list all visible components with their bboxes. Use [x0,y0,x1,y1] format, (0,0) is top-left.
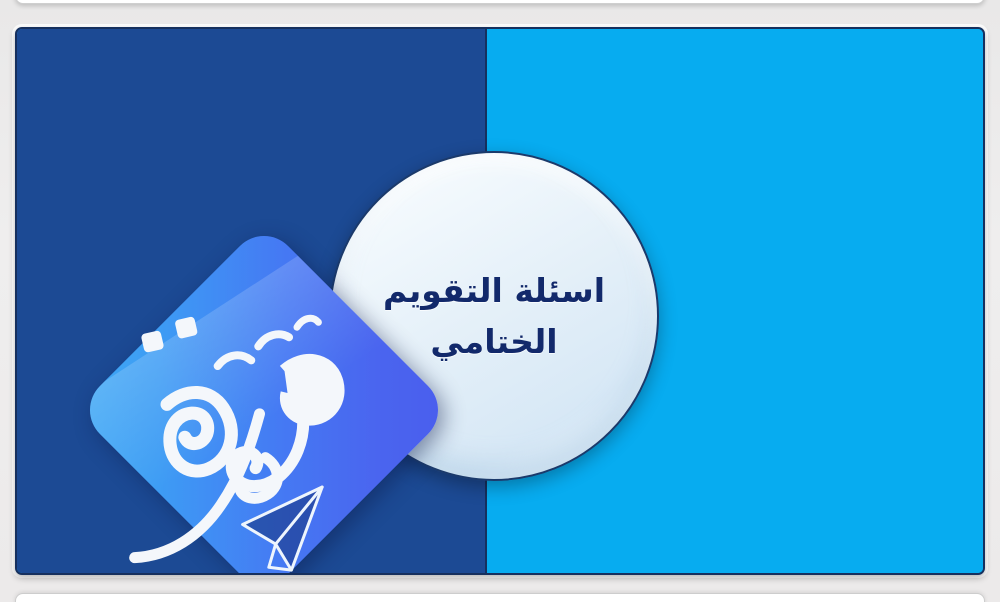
logo-dot-left [141,330,165,353]
brand-logo[interactable] [79,225,449,575]
logo-artwork [79,225,449,575]
slide-deck[interactable]: اسئلة التقويم الختامي [0,0,1000,602]
logo-dot-right [174,316,198,339]
next-slide-preview[interactable] [15,593,985,602]
logo-wordmark-mahara [85,288,365,559]
heading-line-2: الختامي [430,322,557,361]
previous-slide-sliver[interactable] [15,0,985,4]
current-slide[interactable]: اسئلة التقويم الختامي [15,27,985,575]
